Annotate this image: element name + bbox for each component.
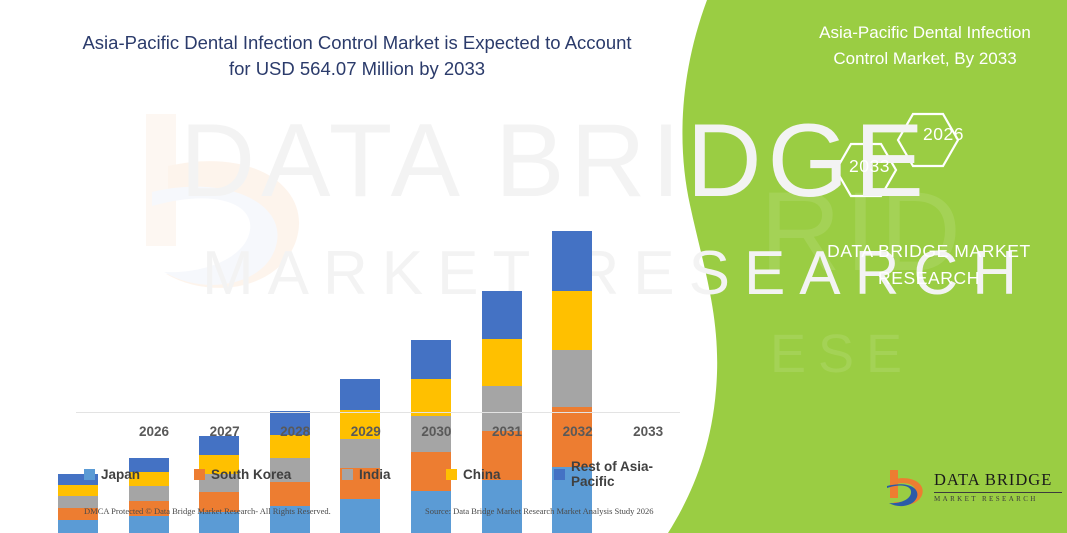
footer-source-text: Source: Data Bridge Market Research Mark… — [425, 506, 654, 516]
legend-item[interactable]: Rest of Asia-Pacific — [554, 459, 684, 489]
chart-legend: JapanSouth KoreaIndiaChinaRest of Asia-P… — [84, 462, 684, 486]
legend-label: China — [463, 467, 501, 482]
brand-logo-title: DATA BRIDGE — [934, 470, 1062, 490]
x-axis-label: 2032 — [548, 424, 608, 439]
brand-logo-text: DATA BRIDGE MARKET RESEARCH — [934, 470, 1062, 503]
legend-swatch-icon — [194, 469, 205, 480]
legend-swatch-icon — [446, 469, 457, 480]
hexagon-2033-label: 2033 — [849, 156, 890, 177]
legend-swatch-icon — [342, 469, 353, 480]
x-axis-label: 2031 — [477, 424, 537, 439]
bar-segment — [411, 379, 451, 416]
bar-segment — [552, 291, 592, 350]
footer: DMCA Protected © Data Bridge Market Rese… — [84, 506, 684, 526]
panel-brand-line2: RESEARCH — [800, 265, 1058, 292]
bar-segment — [129, 486, 169, 500]
x-axis-label: 2027 — [195, 424, 255, 439]
legend-item[interactable]: Japan — [84, 467, 140, 482]
x-axis-label: 2026 — [124, 424, 184, 439]
brand-logo: DATA BRIDGE MARKET RESEARCH — [884, 466, 1059, 514]
bar-segment — [58, 485, 98, 496]
panel-brand: DATA BRIDGE MARKET RESEARCH — [800, 238, 1058, 292]
x-axis-label: 2030 — [406, 424, 466, 439]
legend-label: India — [359, 467, 391, 482]
brand-logo-subtitle: MARKET RESEARCH — [934, 492, 1062, 503]
data-bridge-b-mark-icon — [884, 468, 928, 510]
hexagon-2026-label: 2026 — [923, 124, 964, 145]
legend-label: Rest of Asia-Pacific — [571, 459, 684, 489]
bar-segment — [340, 379, 380, 409]
x-axis-line — [76, 412, 680, 413]
legend-label: Japan — [101, 467, 140, 482]
bar-segment — [552, 231, 592, 291]
x-axis-labels: 20262027202820292030203120322033 — [76, 419, 686, 445]
bar-segment — [411, 340, 451, 378]
x-axis-label: 2029 — [336, 424, 396, 439]
legend-item[interactable]: South Korea — [194, 467, 291, 482]
x-axis-label: 2028 — [265, 424, 325, 439]
legend-swatch-icon — [554, 469, 565, 480]
legend-item[interactable]: India — [342, 467, 391, 482]
hexagon-labels: 2033 2026 — [822, 98, 1012, 208]
panel-title: Asia-Pacific Dental Infection Control Ma… — [795, 20, 1055, 71]
footer-dmca-text: DMCA Protected © Data Bridge Market Rese… — [84, 506, 331, 516]
x-axis-label: 2033 — [618, 424, 678, 439]
legend-item[interactable]: China — [446, 467, 501, 482]
bar-segment — [482, 291, 522, 339]
bar-segment — [552, 350, 592, 406]
panel-brand-line1: DATA BRIDGE MARKET — [800, 238, 1058, 265]
bar-segment — [482, 339, 522, 386]
infographic-root: RID ESE DATA BRIDGE MARKET RESEARCH Asia… — [0, 0, 1067, 533]
legend-label: South Korea — [211, 467, 291, 482]
legend-swatch-icon — [84, 469, 95, 480]
